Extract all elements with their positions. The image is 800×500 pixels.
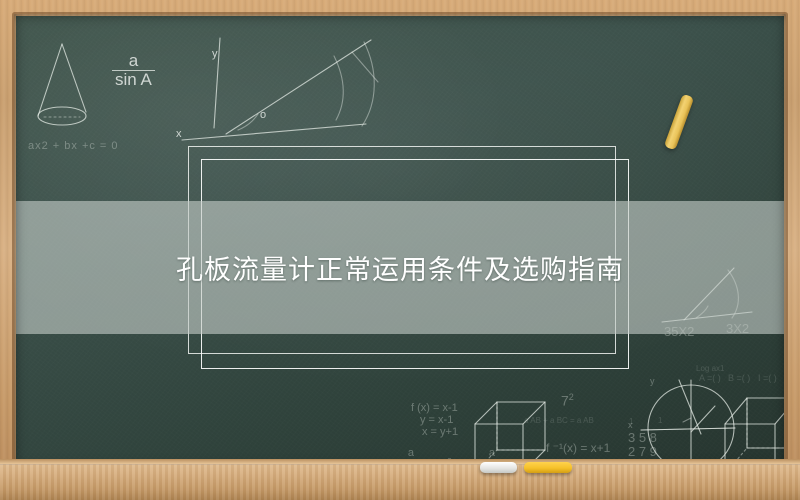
chalkboard-banner: a sin A y x o ax2 + bx +c = 0 35X2 xyxy=(0,0,800,500)
yellow-chalk-ledge-icon xyxy=(524,462,572,473)
frame-bevel xyxy=(14,14,786,468)
white-chalk-icon xyxy=(480,462,517,473)
chalk-ledge xyxy=(0,464,800,500)
